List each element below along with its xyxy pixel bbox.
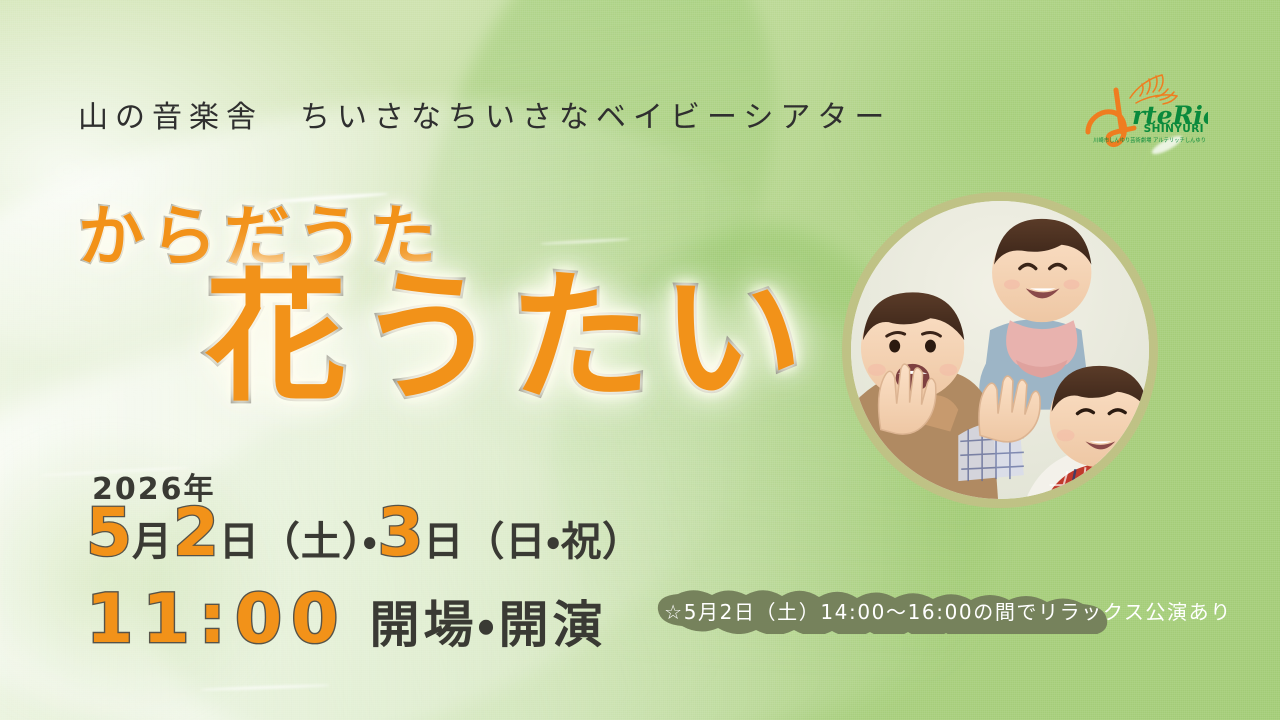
logo-japanese-caption: 川崎市しんゆり芸術劇場 アルテリッチしんゆり xyxy=(1093,139,1206,145)
logo-subtitle: SHINYURI xyxy=(1144,124,1204,135)
relax-performance-banner: ☆5月2日（土）14:00〜16:00の間でリラックス公演あり xyxy=(650,588,1246,634)
date-day1-unit: 日（土）・ xyxy=(219,519,378,565)
header-presenter-line: 山の音楽舎 ちいさなちいさなベイビーシアター xyxy=(78,92,891,136)
event-date-line: 5月2日（土）・3日（日・祝） xyxy=(86,500,643,566)
event-time-line: 11:00開場・開演 xyxy=(86,586,606,654)
poster-main-title: 花うたい xyxy=(205,268,813,410)
event-time-clock: 11:00 xyxy=(86,580,347,659)
date-month-unit: 月 xyxy=(132,519,173,565)
banner-note-text: ☆5月2日（土）14:00〜16:00の間でリラックス公演あり xyxy=(650,588,1246,634)
event-time-label: 開場・開演 xyxy=(369,596,606,654)
brush-flick xyxy=(200,684,330,692)
photo-ring-border xyxy=(842,192,1158,508)
date-day2-number: 3 xyxy=(377,494,423,571)
arte-ricca-logo: rteRicca SHINYURI 川崎市しんゆり芸術劇場 アルテリッチしんゆり xyxy=(1078,62,1208,148)
event-poster: 山の音楽舎 ちいさなちいさなベイビーシアター rteRicca SHINYURI xyxy=(0,0,1280,720)
brush-flick xyxy=(540,238,630,246)
date-month-number: 5 xyxy=(86,494,132,571)
date-day1-number: 2 xyxy=(173,494,219,571)
date-day2-unit: 日（日・祝） xyxy=(423,519,643,565)
baby-photo xyxy=(851,201,1149,499)
